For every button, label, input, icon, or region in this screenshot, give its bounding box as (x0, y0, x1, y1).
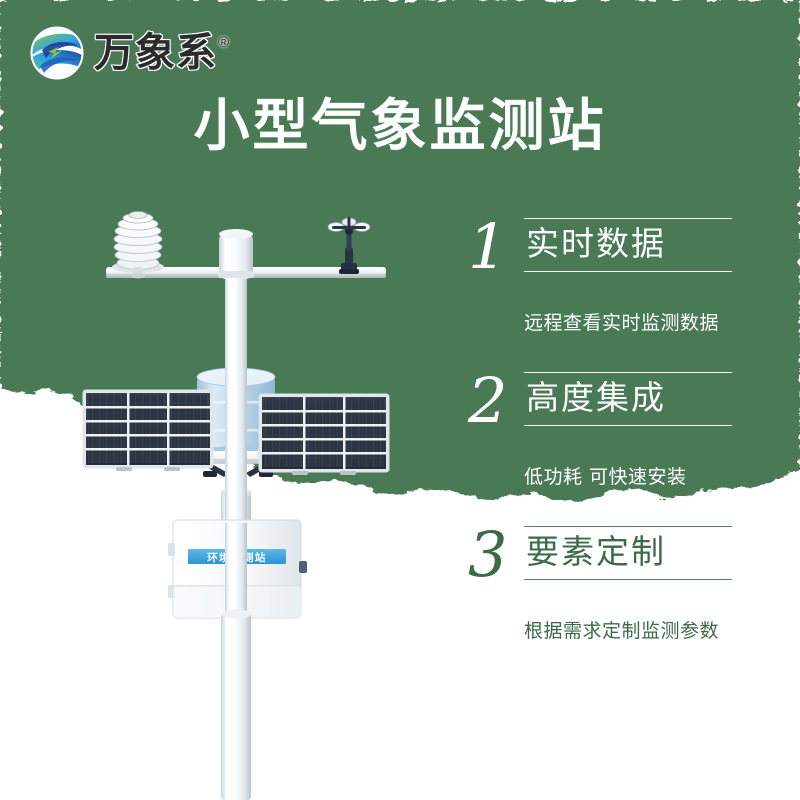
feature-heading-block: 实时数据 (524, 218, 774, 272)
globe-swirl-icon (28, 24, 86, 82)
feature-subtitle: 根据需求定制监测参数 (524, 616, 719, 643)
feature-number: 1 (468, 216, 507, 278)
feature-title: 高度集成 (524, 373, 774, 425)
anemometer-sensor-icon (328, 217, 370, 274)
brand-name: 万象系 (94, 33, 217, 73)
feature-number: 2 (468, 370, 507, 432)
solar-panel-left (84, 391, 212, 471)
solar-panel-right (260, 395, 388, 475)
divider-top (524, 526, 732, 527)
feature-title: 要素定制 (524, 527, 774, 579)
feature-item-1: 1 实时数据 远程查看实时监测数据 (468, 212, 788, 338)
feature-heading-block: 要素定制 (524, 526, 774, 580)
feature-subtitle: 低功耗 可快速安装 (524, 462, 687, 489)
divider-bottom (524, 425, 732, 426)
divider-top (524, 218, 732, 219)
feature-heading-block: 高度集成 (524, 372, 774, 426)
feature-list: 1 实时数据 远程查看实时监测数据 2 高度集成 低功耗 可快速安装 3 要素定… (468, 212, 788, 674)
divider-top (524, 372, 732, 373)
radiation-shield-sensor-icon (112, 212, 164, 279)
page-title: 小型气象监测站 (0, 96, 800, 158)
feature-title: 实时数据 (524, 219, 774, 271)
divider-bottom (524, 579, 732, 580)
product-illustration: 环境监测站 (60, 205, 420, 800)
feature-item-2: 2 高度集成 低功耗 可快速安装 (468, 366, 788, 492)
divider-bottom (524, 271, 732, 272)
poster-root: 万象系 ® 小型气象监测站 (0, 0, 800, 800)
feature-subtitle: 远程查看实时监测数据 (524, 308, 719, 335)
feature-number: 3 (468, 524, 507, 586)
feature-item-3: 3 要素定制 根据需求定制监测参数 (468, 520, 788, 646)
brand-logo: 万象系 ® (28, 24, 229, 82)
registered-trademark-icon: ® (218, 35, 229, 50)
